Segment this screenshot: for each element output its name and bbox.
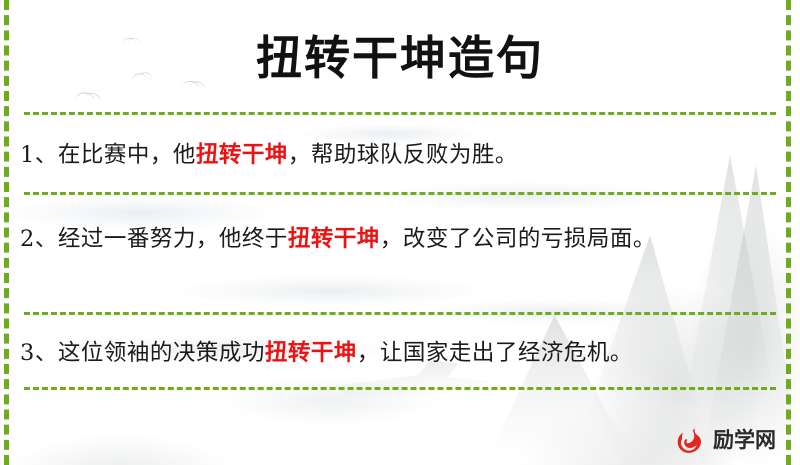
logo-text: 励学网 (713, 430, 776, 451)
divider-rule (24, 312, 776, 315)
highlighted-idiom: 扭转干坤 (196, 142, 288, 168)
sentence-index: 1、 (20, 142, 58, 168)
sentence-item: 2、经过一番努力，他终于扭转干坤，改变了公司的亏损局面。 (20, 218, 774, 260)
highlighted-idiom: 扭转干坤 (288, 226, 380, 252)
sentence-item: 1、在比赛中，他扭转干坤，帮助球队反败为胜。 (20, 134, 774, 176)
mountain-watermark (480, 165, 800, 465)
divider-rule (24, 387, 776, 390)
sentence-text-before: 在比赛中，他 (58, 142, 196, 168)
sentence-index: 3、 (20, 340, 58, 366)
cloud-icon (180, 276, 480, 306)
bird-icon (75, 92, 95, 102)
worksheet-page: 扭转干坤造句 1、在比赛中，他扭转干坤，帮助球队反败为胜。 2、经过一番努力，他… (0, 0, 800, 465)
cloud-icon (380, 182, 670, 210)
sentence-text-before: 这位领袖的决策成功 (58, 340, 265, 366)
sentence-index: 2、 (20, 226, 58, 252)
divider-rule (24, 192, 776, 195)
sentence-text-after: ，让国家走出了经济危机。 (357, 340, 633, 366)
divider-rule (24, 112, 776, 115)
sentence-item: 3、这位领袖的决策成功扭转干坤，让国家走出了经济危机。 (20, 332, 774, 374)
site-logo[interactable]: 励学网 (675, 423, 776, 457)
highlighted-idiom: 扭转干坤 (265, 340, 357, 366)
flame-swirl-icon (675, 423, 709, 457)
sentence-text-after: ，帮助球队反败为胜。 (288, 142, 518, 168)
sentence-text-before: 经过一番努力，他终于 (58, 226, 288, 252)
page-title: 扭转干坤造句 (0, 22, 800, 88)
sentence-text-after: ，改变了公司的亏损局面。 (380, 226, 656, 252)
mountain-peak-icon (584, 235, 704, 425)
mountain-peak-icon (690, 165, 800, 465)
